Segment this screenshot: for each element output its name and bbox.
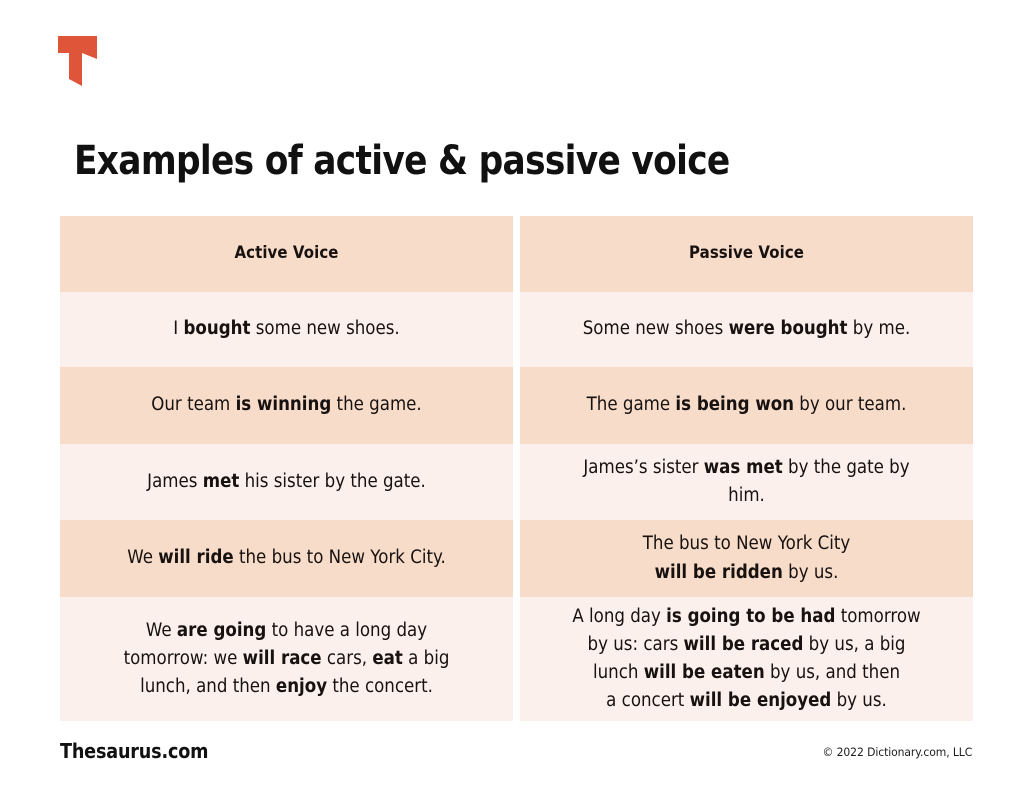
passive-voice-text: The game is being won by our team. [566, 391, 927, 419]
passive-voice-cell: A long day is going to be had tomorrowby… [520, 597, 973, 721]
column-header-passive-voice-label: Passive Voice [570, 241, 923, 267]
infographic-page: Examples of active & passive voice Activ… [0, 0, 1024, 795]
active-voice-text: James met his sister by the gate. [106, 468, 467, 496]
table-row: Our team is winning the game. The game i… [60, 367, 973, 444]
passive-voice-text: The bus to New York Citywill be ridden b… [566, 530, 927, 586]
column-header-active-voice-label: Active Voice [110, 241, 463, 267]
passive-voice-cell: The game is being won by our team. [520, 367, 973, 444]
active-voice-cell: We are going to have a long daytomorrow:… [60, 597, 513, 721]
passive-voice-cell: The bus to New York Citywill be ridden b… [520, 520, 973, 597]
active-voice-cell: We will ride the bus to New York City. [60, 520, 513, 597]
column-header-active-voice: Active Voice [60, 216, 513, 292]
active-passive-voice-table: Active Voice Passive Voice I bought some… [60, 216, 973, 721]
active-voice-text: We will ride the bus to New York City. [106, 544, 467, 572]
passive-voice-cell: Some new shoes were bought by me. [520, 292, 973, 367]
passive-voice-text: A long day is going to be had tomorrowby… [566, 603, 927, 715]
passive-voice-text: Some new shoes were bought by me. [566, 315, 927, 343]
passive-voice-cell: James’s sister was met by the gate by hi… [520, 444, 973, 520]
thesaurus-t-logo-icon [55, 33, 111, 89]
active-voice-cell: Our team is winning the game. [60, 367, 513, 444]
passive-voice-text: James’s sister was met by the gate by hi… [566, 454, 927, 510]
table-row: James met his sister by the gate. James’… [60, 444, 973, 520]
active-voice-cell: I bought some new shoes. [60, 292, 513, 367]
footer-brand-name: Thesaurus.com [60, 739, 208, 763]
active-voice-text: We are going to have a long daytomorrow:… [106, 617, 467, 701]
table-row: I bought some new shoes. Some new shoes … [60, 292, 973, 367]
active-voice-cell: James met his sister by the gate. [60, 444, 513, 520]
table-row: We will ride the bus to New York City. T… [60, 520, 973, 597]
page-title: Examples of active & passive voice [74, 136, 730, 186]
active-voice-text: Our team is winning the game. [106, 391, 467, 419]
table-header-row: Active Voice Passive Voice [60, 216, 973, 292]
footer-copyright: © 2022 Dictionary.com, LLC [822, 745, 972, 759]
column-header-passive-voice: Passive Voice [520, 216, 973, 292]
table-row: We are going to have a long daytomorrow:… [60, 597, 973, 721]
active-voice-text: I bought some new shoes. [106, 315, 467, 343]
